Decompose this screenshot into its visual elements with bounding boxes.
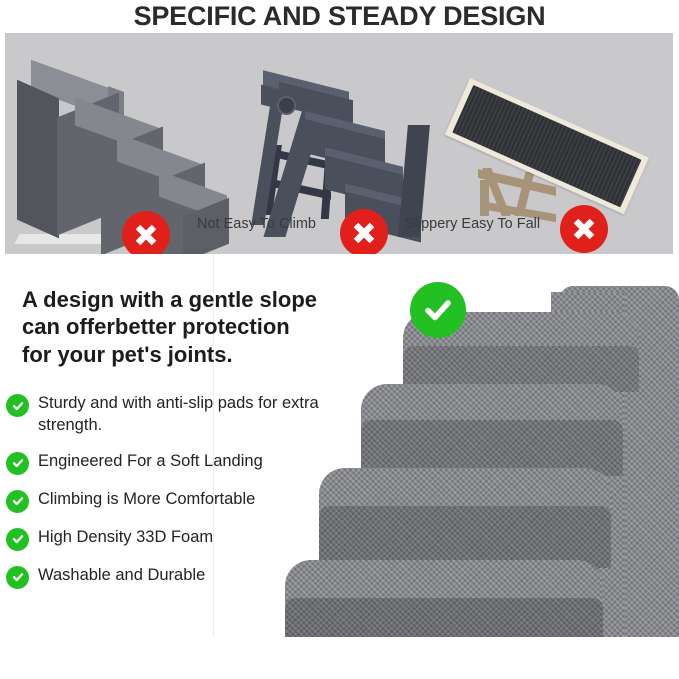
headline-line-1: A design with a gentle slope (22, 286, 342, 313)
list-item: High Density 33D Foam (6, 527, 346, 551)
check-circle-icon (6, 452, 29, 475)
x-mark-icon (340, 209, 388, 254)
comparison-label-not-easy-to-climb: Not Easy To Climb (197, 216, 316, 232)
list-item-label: Sturdy and with anti-slip pads for extra… (38, 393, 346, 437)
feature-bullet-list: Sturdy and with anti-slip pads for extra… (6, 393, 346, 603)
list-item-label: High Density 33D Foam (38, 527, 213, 549)
list-item: Washable and Durable (6, 565, 346, 589)
check-mark-icon (410, 282, 466, 338)
list-item-label: Washable and Durable (38, 565, 205, 587)
comparison-label-slippery-easy-to-fall: Slippery Easy To Fall (405, 216, 540, 232)
feature-section: A design with a gentle slope can offerbe… (0, 254, 679, 679)
foam-box-stairs-illustration (13, 67, 228, 242)
x-mark-icon (560, 205, 608, 253)
wooden-ramp-illustration (462, 68, 667, 238)
list-item: Engineered For a Soft Landing (6, 451, 346, 475)
headline-line-3: for your pet's joints. (22, 341, 342, 368)
check-circle-icon (6, 490, 29, 513)
list-item: Sturdy and with anti-slip pads for extra… (6, 393, 346, 437)
page-title: SPECIFIC AND STEADY DESIGN (134, 1, 546, 32)
infographic-page: SPECIFIC AND STEADY DESIGN (0, 0, 679, 679)
check-circle-icon (6, 394, 29, 417)
feature-headline: A design with a gentle slope can offerbe… (22, 286, 342, 368)
headline-line-2: can offerbetter protection (22, 313, 342, 340)
x-mark-icon (122, 211, 170, 254)
pet-photo-dog (458, 672, 668, 679)
page-title-bar: SPECIFIC AND STEADY DESIGN (0, 0, 679, 33)
list-item-label: Climbing is More Comfortable (38, 489, 255, 511)
folding-plastic-stairs-illustration (253, 65, 433, 240)
list-item-label: Engineered For a Soft Landing (38, 451, 263, 473)
hinge-icon (277, 96, 296, 115)
comparison-panel: Not Easy To Climb Slippery Easy To Fall (5, 33, 673, 254)
list-item: Climbing is More Comfortable (6, 489, 346, 513)
check-circle-icon (6, 528, 29, 551)
check-circle-icon (6, 566, 29, 589)
